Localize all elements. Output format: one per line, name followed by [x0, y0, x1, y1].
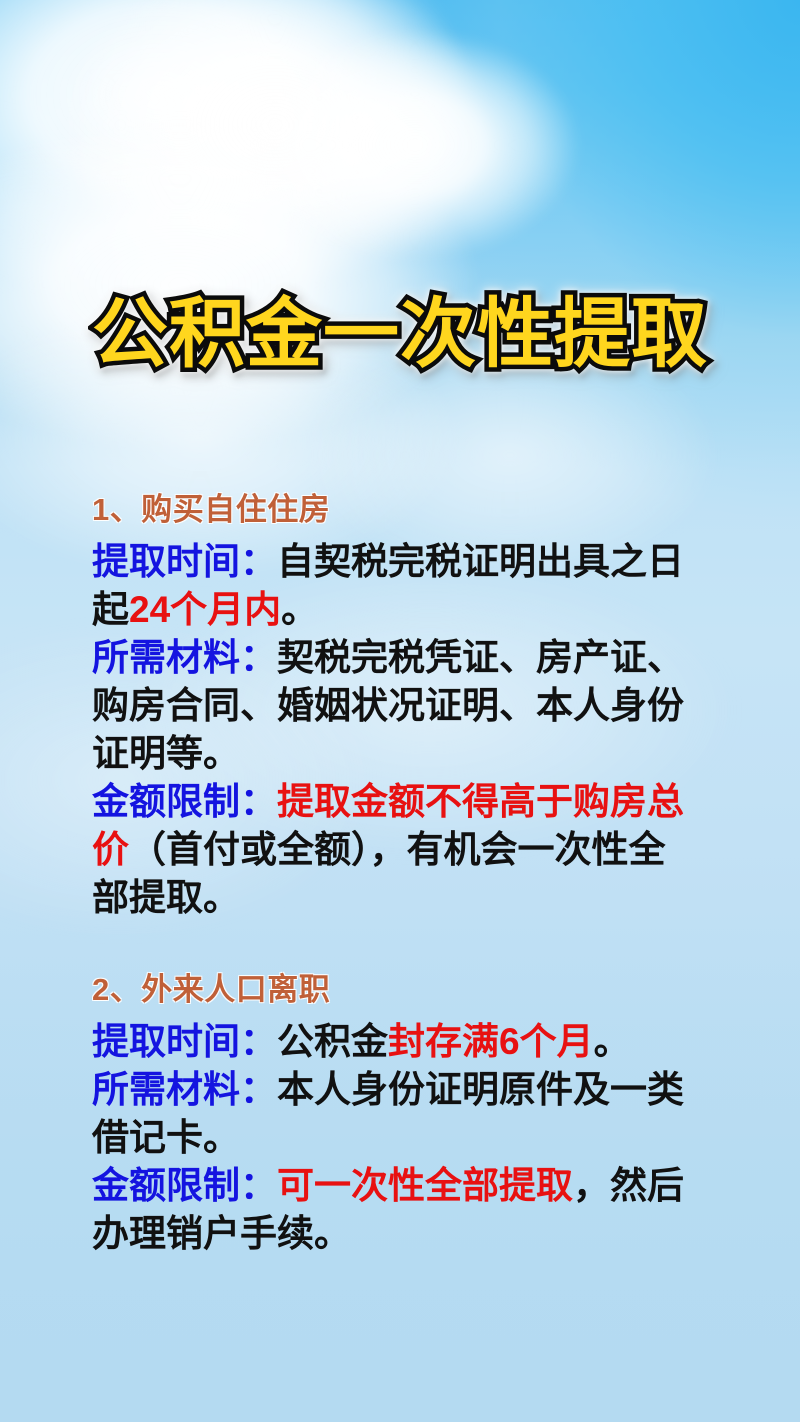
field-label: 提取时间：: [92, 1021, 277, 1062]
poster-title: 公积金一次性提取: [92, 296, 708, 372]
content-section: 2、外来人口离职提取时间：公积金封存满6个月。所需材料：本人身份证明原件及一类借…: [92, 968, 696, 1258]
field-label: 金额限制：: [92, 781, 277, 822]
content-line: 提取时间：公积金封存满6个月。: [92, 1018, 696, 1066]
content-body: 1、购买自住住房提取时间：自契税完税证明出具之日起24个月内。所需材料：契税完税…: [92, 488, 696, 1258]
highlighted-text: 封存满6个月: [388, 1021, 594, 1062]
field-label: 所需材料：: [92, 637, 277, 678]
field-value: 公积金: [277, 1021, 388, 1062]
title-container: 公积金一次性提取: [0, 296, 800, 372]
highlighted-text: 可一次性全部提取: [277, 1165, 573, 1206]
field-label: 金额限制：: [92, 1165, 277, 1206]
field-label: 所需材料：: [92, 1069, 277, 1110]
section-heading: 2、外来人口离职: [92, 968, 696, 1012]
content-line: 提取时间：自契税完税证明出具之日起24个月内。: [92, 538, 696, 634]
content-line: 所需材料：契税完税凭证、房产证、购房合同、婚姻状况证明、本人身份证明等。: [92, 634, 696, 778]
section-heading: 1、购买自住住房: [92, 488, 696, 532]
content-line: 金额限制：提取金额不得高于购房总价（首付或全额），有机会一次性全部提取。: [92, 778, 696, 922]
field-value: 。: [594, 1021, 631, 1062]
content-line: 所需材料：本人身份证明原件及一类借记卡。: [92, 1066, 696, 1162]
poster-canvas: 公积金一次性提取 1、购买自住住房提取时间：自契税完税证明出具之日起24个月内。…: [0, 0, 800, 1422]
content-section: 1、购买自住住房提取时间：自契税完税证明出具之日起24个月内。所需材料：契税完税…: [92, 488, 696, 922]
field-label: 提取时间：: [92, 541, 277, 582]
highlighted-text: 24个月内: [129, 589, 281, 630]
cloud-shape: [250, 30, 580, 260]
content-line: 金额限制：可一次性全部提取，然后办理销户手续。: [92, 1162, 696, 1258]
field-value: （首付或全额），有机会一次性全部提取。: [92, 829, 666, 918]
field-value: 。: [281, 589, 318, 630]
